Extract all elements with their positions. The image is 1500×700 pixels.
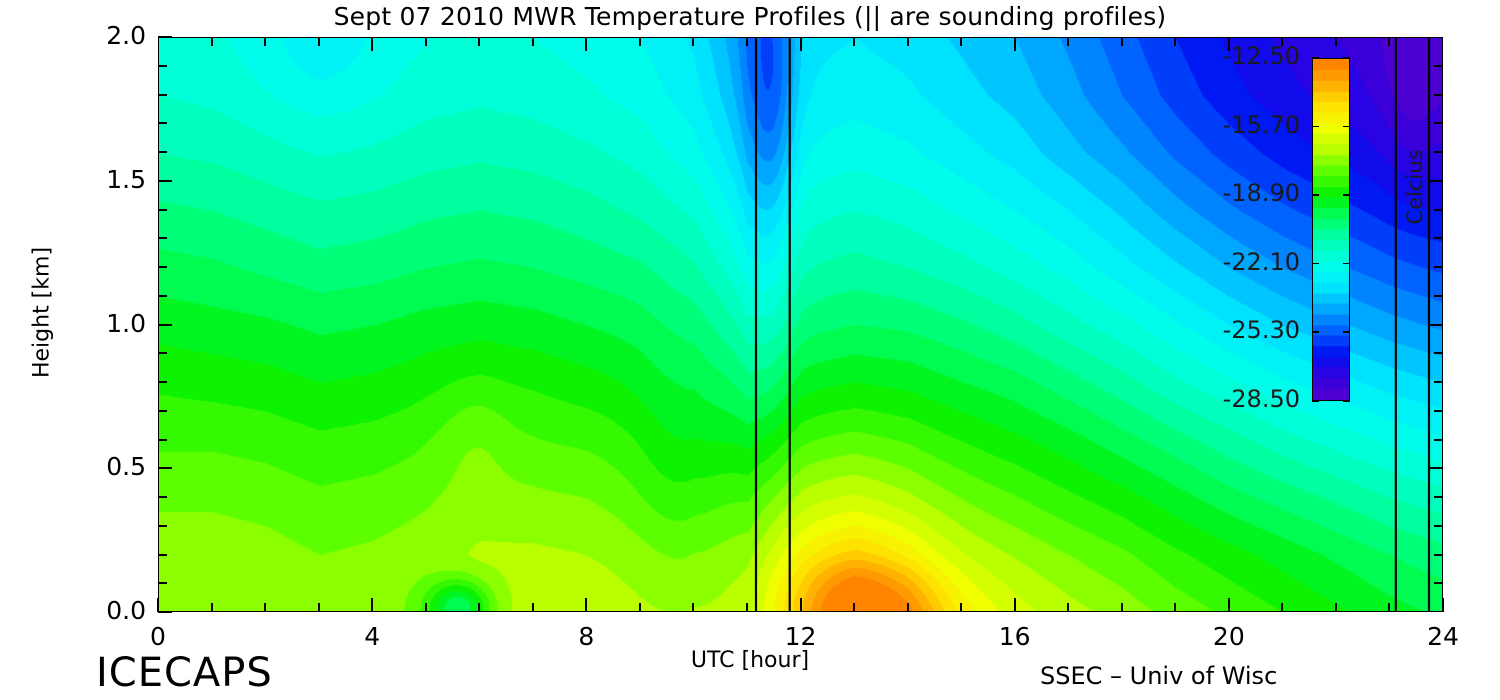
colorbar-tick bbox=[1312, 263, 1319, 265]
x-tick-label: 24 bbox=[1398, 622, 1488, 651]
x-tick-top bbox=[1388, 37, 1390, 46]
x-tick-bottom bbox=[746, 603, 748, 612]
colorbar-tick bbox=[1343, 57, 1350, 59]
colorbar-tick bbox=[1312, 126, 1319, 128]
y-tick-left bbox=[158, 554, 167, 556]
x-tick-bottom bbox=[639, 603, 641, 612]
y-tick-right bbox=[1434, 65, 1443, 67]
x-tick-bottom bbox=[211, 603, 213, 612]
colorbar-tick bbox=[1343, 194, 1350, 196]
x-tick-bottom bbox=[1174, 603, 1176, 612]
y-tick-right bbox=[1434, 582, 1443, 584]
y-tick-left bbox=[158, 36, 172, 38]
y-tick-right bbox=[1434, 122, 1443, 124]
y-tick-right bbox=[1429, 467, 1443, 469]
x-tick-bottom bbox=[1067, 603, 1069, 612]
y-tick-left bbox=[158, 122, 167, 124]
x-tick-bottom bbox=[1335, 603, 1337, 612]
y-tick-left bbox=[158, 496, 167, 498]
colorbar-tick bbox=[1343, 400, 1350, 402]
x-tick-bottom bbox=[1388, 603, 1390, 612]
y-tick-right bbox=[1434, 554, 1443, 556]
y-tick-left bbox=[158, 65, 167, 67]
x-tick-label: 8 bbox=[541, 622, 631, 651]
x-tick-bottom bbox=[371, 598, 373, 612]
x-tick-top bbox=[211, 37, 213, 46]
project-brand: ICECAPS bbox=[96, 650, 273, 696]
x-tick-top bbox=[264, 37, 266, 46]
x-tick-bottom bbox=[1281, 603, 1283, 612]
y-tick-right bbox=[1434, 237, 1443, 239]
x-tick-bottom bbox=[532, 603, 534, 612]
y-tick-right bbox=[1429, 180, 1443, 182]
x-tick-top bbox=[1121, 37, 1123, 46]
x-tick-bottom bbox=[960, 603, 962, 612]
x-tick-top bbox=[960, 37, 962, 46]
y-tick-label: 1.0 bbox=[54, 309, 146, 338]
x-tick-bottom bbox=[318, 603, 320, 612]
colorbar-tick-label: -28.50 bbox=[1160, 385, 1300, 413]
x-tick-bottom bbox=[853, 603, 855, 612]
x-tick-top bbox=[853, 37, 855, 46]
x-tick-bottom bbox=[692, 603, 694, 612]
colorbar-title: Celcius bbox=[1403, 102, 1427, 272]
x-tick-top bbox=[639, 37, 641, 46]
y-tick-left bbox=[158, 324, 172, 326]
y-tick-right bbox=[1434, 209, 1443, 211]
x-tick-top bbox=[532, 37, 534, 46]
x-tick-top bbox=[318, 37, 320, 46]
x-tick-top bbox=[746, 37, 748, 46]
x-tick-bottom bbox=[907, 603, 909, 612]
x-tick-top bbox=[1335, 37, 1337, 46]
y-tick-right bbox=[1434, 266, 1443, 268]
y-tick-left bbox=[158, 295, 167, 297]
y-tick-left bbox=[158, 467, 172, 469]
colorbar-tick bbox=[1343, 263, 1350, 265]
colorbar-tick-label: -25.30 bbox=[1160, 316, 1300, 344]
x-tick-top bbox=[478, 37, 480, 46]
institution-credit: SSEC – Univ of Wisc bbox=[1040, 662, 1277, 690]
y-tick-left bbox=[158, 266, 167, 268]
x-tick-top bbox=[1067, 37, 1069, 46]
y-tick-left bbox=[158, 381, 167, 383]
x-tick-bottom bbox=[1014, 598, 1016, 612]
x-tick-top bbox=[1014, 37, 1016, 51]
y-tick-label: 0.0 bbox=[54, 596, 146, 625]
y-tick-right bbox=[1429, 324, 1443, 326]
y-tick-right bbox=[1434, 352, 1443, 354]
y-tick-left bbox=[158, 525, 167, 527]
y-tick-right bbox=[1434, 94, 1443, 96]
y-tick-right bbox=[1434, 410, 1443, 412]
colorbar-tick bbox=[1312, 331, 1319, 333]
y-tick-label: 2.0 bbox=[54, 21, 146, 50]
x-tick-bottom bbox=[1121, 603, 1123, 612]
x-tick-label: 16 bbox=[970, 622, 1060, 651]
y-tick-right bbox=[1434, 496, 1443, 498]
x-tick-bottom bbox=[425, 603, 427, 612]
colorbar-tick-label: -12.50 bbox=[1160, 42, 1300, 70]
x-tick-bottom bbox=[157, 598, 159, 612]
x-tick-bottom bbox=[264, 603, 266, 612]
x-tick-bottom bbox=[1228, 598, 1230, 612]
colorbar-tick bbox=[1312, 400, 1319, 402]
x-tick-label: 20 bbox=[1184, 622, 1274, 651]
y-tick-label: 1.5 bbox=[54, 165, 146, 194]
x-tick-label: 0 bbox=[113, 622, 203, 651]
figure-root: Sept 07 2010 MWR Temperature Profiles (|… bbox=[0, 0, 1500, 700]
x-tick-label: 12 bbox=[756, 622, 846, 651]
x-tick-bottom bbox=[800, 598, 802, 612]
x-tick-bottom bbox=[478, 603, 480, 612]
y-axis-title: Height [km] bbox=[30, 203, 55, 423]
colorbar-tick bbox=[1343, 331, 1350, 333]
x-tick-top bbox=[692, 37, 694, 46]
y-tick-left bbox=[158, 352, 167, 354]
x-tick-top bbox=[425, 37, 427, 46]
x-tick-top bbox=[585, 37, 587, 51]
colorbar-tick bbox=[1312, 57, 1319, 59]
y-tick-right bbox=[1434, 525, 1443, 527]
y-tick-left bbox=[158, 611, 172, 613]
chart-title: Sept 07 2010 MWR Temperature Profiles (|… bbox=[0, 2, 1500, 31]
y-tick-right bbox=[1434, 151, 1443, 153]
y-tick-left bbox=[158, 582, 167, 584]
colorbar-tick bbox=[1343, 126, 1350, 128]
y-tick-right bbox=[1434, 439, 1443, 441]
x-tick-top bbox=[800, 37, 802, 51]
y-tick-label: 0.5 bbox=[54, 452, 146, 481]
x-tick-top bbox=[371, 37, 373, 51]
y-tick-left bbox=[158, 209, 167, 211]
colorbar-gradient bbox=[1313, 59, 1349, 400]
y-tick-left bbox=[158, 94, 167, 96]
x-tick-bottom bbox=[1442, 598, 1444, 612]
y-tick-left bbox=[158, 439, 167, 441]
colorbar-tick-label: -22.10 bbox=[1160, 248, 1300, 276]
colorbar-tick bbox=[1312, 194, 1319, 196]
y-tick-right bbox=[1434, 381, 1443, 383]
y-tick-right bbox=[1434, 295, 1443, 297]
x-tick-bottom bbox=[585, 598, 587, 612]
y-tick-left bbox=[158, 180, 172, 182]
y-tick-left bbox=[158, 237, 167, 239]
y-tick-left bbox=[158, 410, 167, 412]
colorbar-tick-label: -18.90 bbox=[1160, 179, 1300, 207]
colorbar bbox=[1312, 58, 1350, 401]
colorbar-tick-label: -15.70 bbox=[1160, 111, 1300, 139]
y-tick-left bbox=[158, 151, 167, 153]
x-tick-top bbox=[907, 37, 909, 46]
x-tick-label: 4 bbox=[327, 622, 417, 651]
